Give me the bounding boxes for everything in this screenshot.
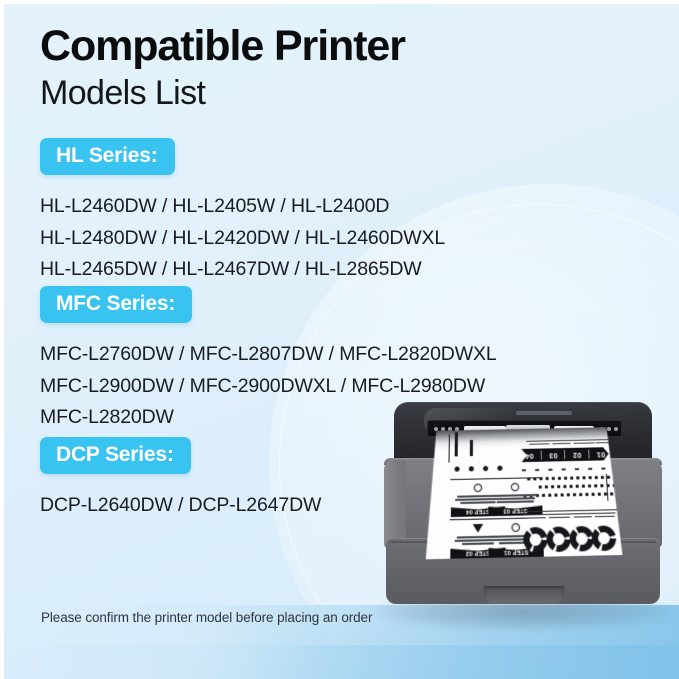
- sheet-donut-chart: [546, 526, 571, 552]
- step-label: STEP 01: [504, 548, 529, 555]
- panel-led-icon: [448, 427, 452, 431]
- printer-left-face: [384, 460, 406, 548]
- printer-tray-handle: [484, 586, 564, 604]
- page-title-block: Compatible Printer Models List: [40, 22, 405, 116]
- banner-number: 03: [549, 451, 558, 458]
- sheet-dot: [454, 467, 459, 472]
- model-line: HL-L2480DW / HL-L2420DW / HL-L2460DWXL: [40, 223, 445, 255]
- sheet-step-banner: 01 02 03 04: [521, 447, 609, 462]
- sheet-dot: [483, 466, 488, 471]
- page-title: Compatible Printer: [40, 22, 405, 70]
- banner-divider-icon: [588, 450, 590, 459]
- sheet-tick: [562, 468, 566, 470]
- panel-led-icon: [607, 427, 611, 431]
- sheet-bar-mark: [455, 432, 458, 456]
- sheet-donut-caption: [588, 507, 620, 519]
- panel-led-icon: [434, 427, 438, 431]
- model-line: HL-L2465DW / HL-L2467DW / HL-L2865DW: [40, 254, 445, 286]
- card-circle-icon: [474, 484, 482, 493]
- banner-divider-icon: [564, 450, 565, 459]
- banner-number: 01: [596, 450, 605, 457]
- sheet-dot: [497, 466, 502, 471]
- page-subtitle: Models List: [40, 72, 405, 116]
- panel-led-icon: [441, 427, 445, 431]
- sheet-tick: [588, 468, 592, 470]
- printed-sheet: 01 02 03 04: [426, 427, 623, 559]
- panel-led-icon: [614, 427, 618, 431]
- printer-illustration: 01 02 03 04: [372, 398, 672, 634]
- banner-number: 02: [573, 451, 582, 458]
- sheet-donut-chart: [591, 525, 617, 551]
- sheet-tick: [535, 469, 539, 471]
- sheet-tick: [601, 468, 605, 470]
- section-hl-series: HL Series: HL-L2460DW / HL-L2405W / HL-L…: [40, 138, 445, 286]
- banner-number: 04: [525, 452, 534, 459]
- background-bottom-band-accent: [4, 645, 679, 679]
- infographic-page: Compatible Printer Models List HL Series…: [0, 0, 679, 679]
- sheet-dot-row: [454, 466, 502, 472]
- section-dcp-series: DCP Series: DCP-L2640DW / DCP-L2647DW: [40, 437, 321, 522]
- sheet-tick: [522, 469, 526, 471]
- footnote-text: Please confirm the printer model before …: [41, 610, 372, 625]
- badge-dcp-series: DCP Series:: [40, 437, 191, 474]
- sheet-tick: [548, 469, 552, 471]
- sheet-tick: [575, 468, 579, 470]
- model-line: DCP-L2640DW / DCP-L2647DW: [40, 490, 321, 522]
- card-triangle-icon: [473, 524, 484, 533]
- sheet-bar-mark: [470, 440, 473, 456]
- badge-mfc-series: MFC Series:: [40, 286, 192, 323]
- sheet-rule: [448, 434, 449, 462]
- sheet-halftone-row: [539, 484, 616, 489]
- sheet-dot: [469, 466, 474, 471]
- model-line: HL-L2460DW / HL-L2405W / HL-L2400D: [40, 191, 445, 223]
- card-circle-icon: [511, 483, 519, 492]
- sheet-donut-chart: [569, 526, 594, 552]
- model-line: MFC-L2760DW / MFC-L2807DW / MFC-L2820DWX…: [40, 339, 497, 371]
- sheet-tick-row: [522, 467, 619, 471]
- card-circle-icon: [511, 523, 520, 532]
- printer-brand-mark: [516, 411, 572, 415]
- model-list-hl: HL-L2460DW / HL-L2405W / HL-L2400D HL-L2…: [40, 191, 445, 286]
- card-rule: [487, 477, 542, 479]
- model-list-dcp: DCP-L2640DW / DCP-L2647DW: [40, 490, 321, 522]
- banner-divider-icon: [541, 451, 542, 460]
- card-text-lines: [487, 494, 543, 503]
- badge-hl-series: HL Series:: [40, 138, 175, 175]
